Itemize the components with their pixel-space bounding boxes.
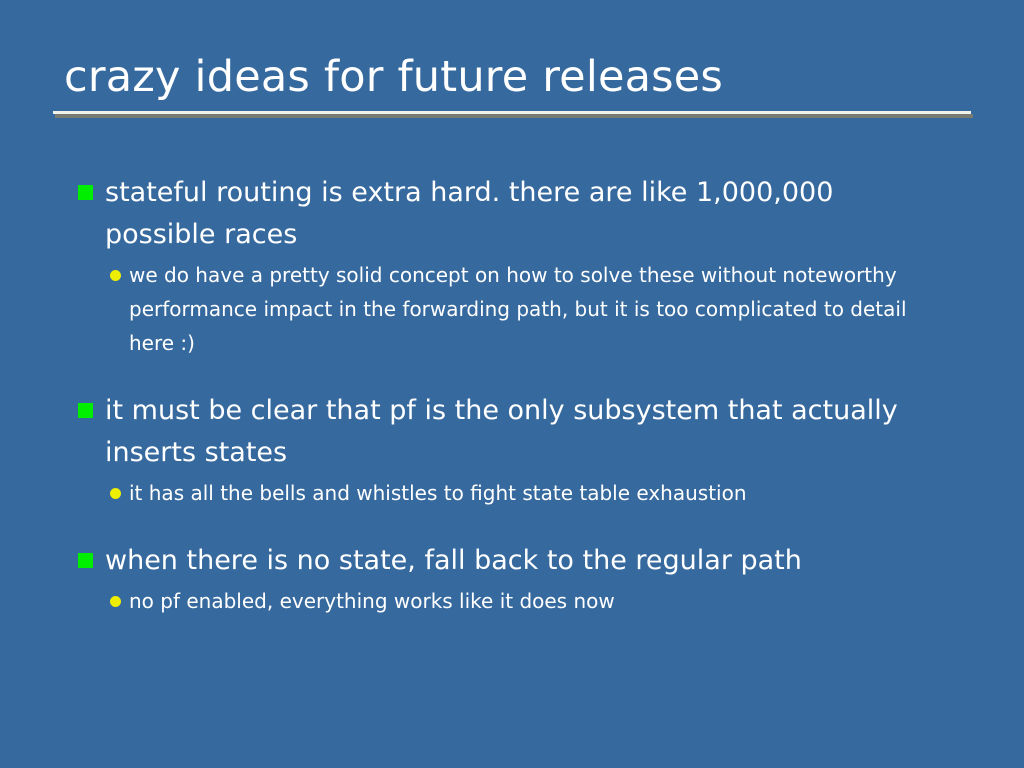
bullet-group: when there is no state, fall back to the…	[78, 540, 978, 618]
title-underline-shadow	[55, 114, 973, 118]
page-title: crazy ideas for future releases	[53, 52, 971, 102]
bullet-group: it must be clear that pf is the only sub…	[78, 390, 978, 510]
bullet-level2: it has all the bells and whistles to fig…	[110, 476, 929, 510]
presentation-slide: crazy ideas for future releases stateful…	[0, 0, 1024, 768]
bullet-level2: no pf enabled, everything works like it …	[110, 584, 929, 618]
dot-bullet-icon	[110, 488, 121, 499]
bullet-level1-label: stateful routing is extra hard. there ar…	[105, 177, 833, 250]
sub-bullet-list: no pf enabled, everything works like it …	[78, 584, 978, 618]
dot-bullet-icon	[110, 270, 121, 281]
slide-body: stateful routing is extra hard. there ar…	[78, 172, 978, 618]
bullet-level1: when there is no state, fall back to the…	[78, 540, 935, 582]
slide-title-block: crazy ideas for future releases	[53, 52, 971, 114]
square-bullet-icon	[78, 403, 93, 418]
sub-bullet-list: we do have a pretty solid concept on how…	[78, 258, 978, 360]
dot-bullet-icon	[110, 596, 121, 607]
title-underline-rule	[53, 111, 971, 114]
bullet-level1-label: it must be clear that pf is the only sub…	[105, 395, 898, 468]
bullet-level2: we do have a pretty solid concept on how…	[110, 258, 929, 360]
sub-bullet-list: it has all the bells and whistles to fig…	[78, 476, 978, 510]
square-bullet-icon	[78, 185, 93, 200]
bullet-level1: it must be clear that pf is the only sub…	[78, 390, 935, 474]
bullet-group: stateful routing is extra hard. there ar…	[78, 172, 978, 360]
bullet-level1-label: when there is no state, fall back to the…	[105, 545, 802, 576]
square-bullet-icon	[78, 553, 93, 568]
bullet-level2-label: no pf enabled, everything works like it …	[129, 589, 615, 613]
bullet-level2-label: it has all the bells and whistles to fig…	[129, 481, 747, 505]
bullet-level1: stateful routing is extra hard. there ar…	[78, 172, 935, 256]
bullet-level2-label: we do have a pretty solid concept on how…	[129, 263, 907, 355]
